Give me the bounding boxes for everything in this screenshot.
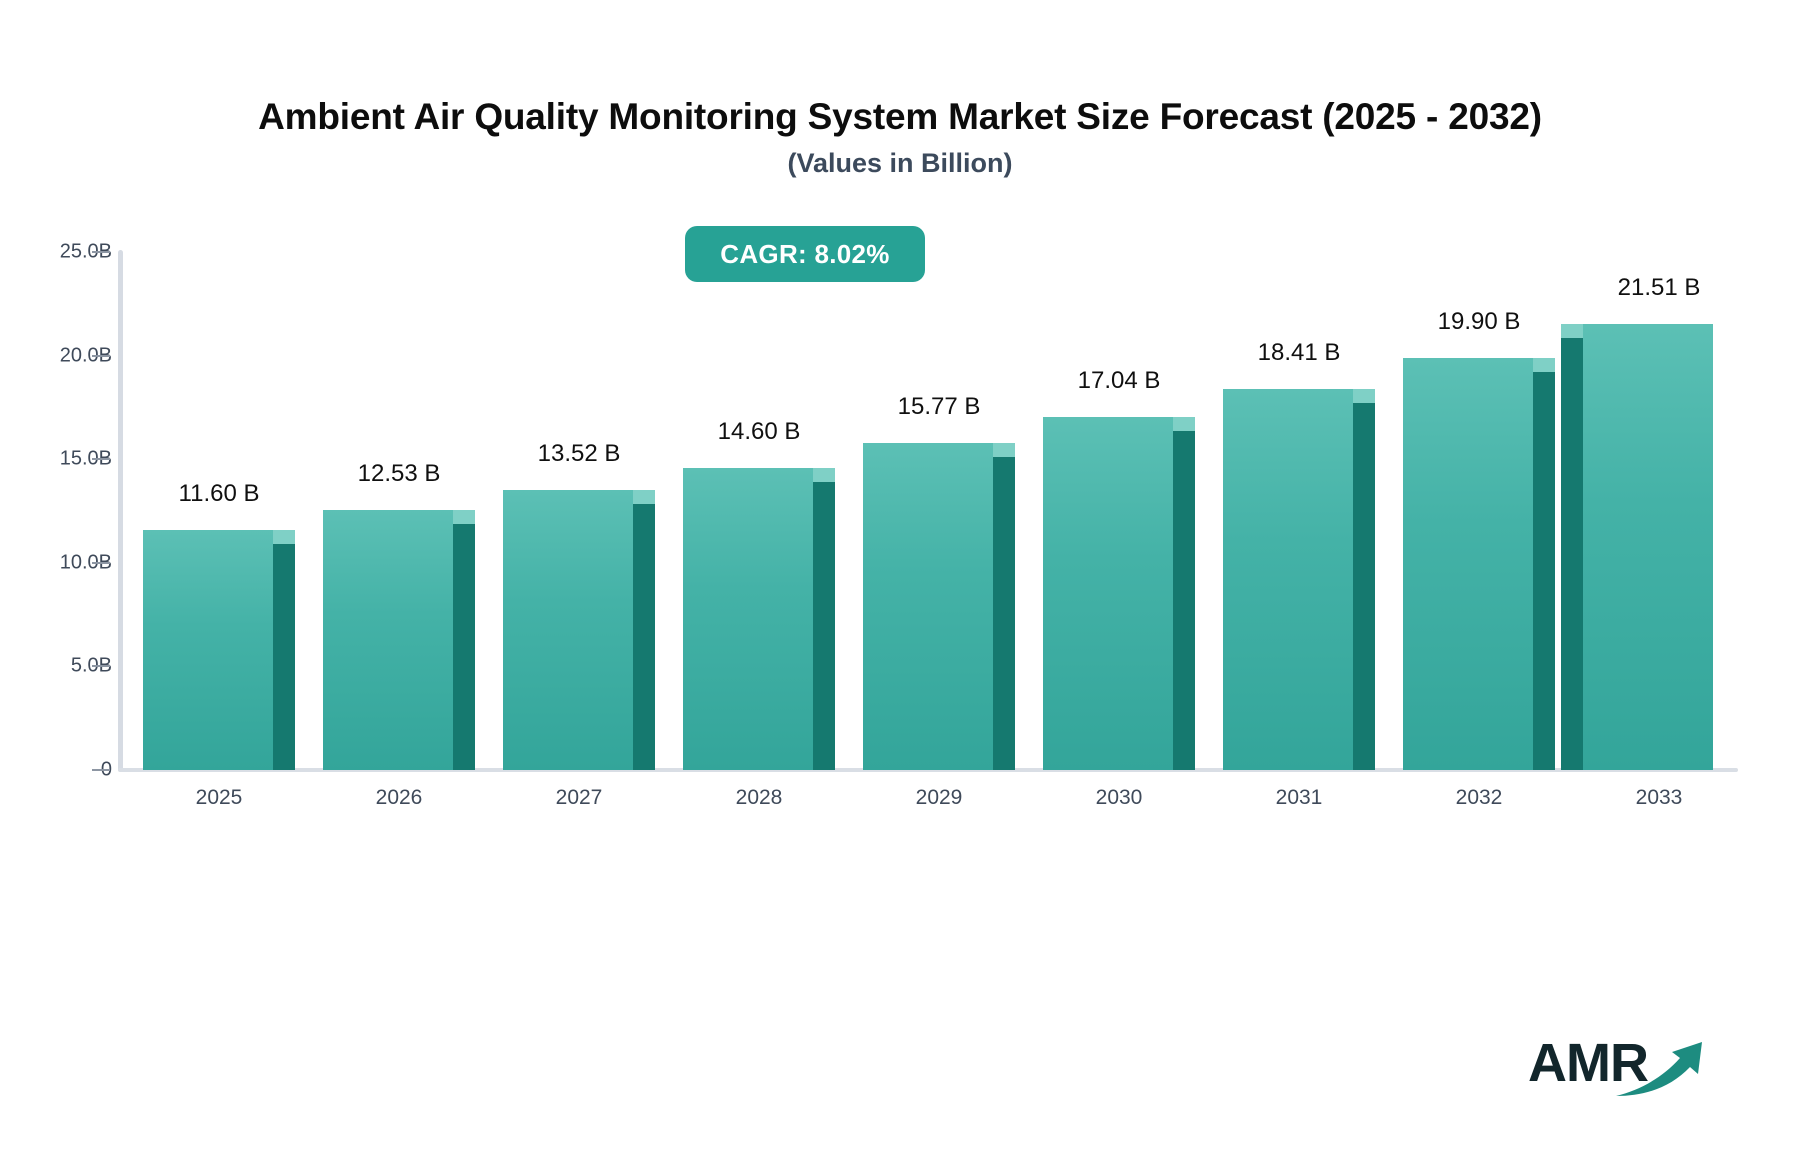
chart-subtitle: (Values in Billion) bbox=[0, 148, 1800, 179]
amr-logo: AMR bbox=[1528, 1030, 1708, 1114]
bar-front-face bbox=[1583, 324, 1713, 770]
bar-top-face bbox=[1173, 417, 1195, 431]
chart-page: Ambient Air Quality Monitoring System Ma… bbox=[0, 0, 1800, 1156]
bar bbox=[503, 490, 633, 770]
bar-top-face bbox=[453, 510, 475, 524]
bar-top-face bbox=[993, 443, 1015, 457]
bar-value-label: 14.60 B bbox=[718, 418, 801, 446]
bar-value-label: 12.53 B bbox=[358, 460, 441, 488]
bar-top-face bbox=[1533, 358, 1555, 372]
bar-value-label: 11.60 B bbox=[179, 480, 260, 508]
y-axis-tick-mark bbox=[92, 665, 110, 667]
x-axis-tick-label: 2031 bbox=[1276, 786, 1323, 810]
bar-front-face bbox=[143, 530, 273, 770]
bar bbox=[323, 510, 453, 770]
x-axis-tick-label: 2030 bbox=[1096, 786, 1143, 810]
y-axis-tick-mark bbox=[92, 769, 110, 771]
bar-side-face bbox=[1533, 372, 1555, 770]
bar bbox=[1403, 358, 1533, 770]
bar-value-label: 21.51 B bbox=[1618, 274, 1701, 302]
x-axis-tick-label: 2032 bbox=[1456, 786, 1503, 810]
bar-side-face bbox=[1173, 431, 1195, 770]
x-axis-tick-label: 2026 bbox=[376, 786, 423, 810]
bar bbox=[1043, 417, 1173, 770]
bar bbox=[1223, 389, 1353, 770]
bar-value-label: 17.04 B bbox=[1078, 367, 1161, 395]
bar bbox=[1583, 324, 1713, 770]
bar-side-face bbox=[633, 504, 655, 770]
bar-front-face bbox=[503, 490, 633, 770]
x-axis-tick-label: 2028 bbox=[736, 786, 783, 810]
bar-side-face bbox=[453, 524, 475, 770]
bar-side-face bbox=[273, 544, 295, 770]
bar-value-label: 19.90 B bbox=[1438, 308, 1521, 336]
bar-front-face bbox=[1223, 389, 1353, 770]
x-axis-tick-label: 2027 bbox=[556, 786, 603, 810]
bar-front-face bbox=[683, 468, 813, 771]
bar-value-label: 13.52 B bbox=[538, 440, 621, 468]
x-axis-tick-label: 2029 bbox=[916, 786, 963, 810]
x-axis-tick-label: 2025 bbox=[196, 786, 243, 810]
y-axis-tick-mark bbox=[92, 355, 110, 357]
bar-front-face bbox=[323, 510, 453, 770]
bar-front-face bbox=[1403, 358, 1533, 770]
bar-front-face bbox=[1043, 417, 1173, 770]
bar bbox=[143, 530, 273, 770]
plot-area: 11.60 B12.53 B13.52 B14.60 B15.77 B17.04… bbox=[118, 252, 1738, 770]
bar bbox=[683, 468, 813, 771]
bar-top-face bbox=[1353, 389, 1375, 403]
bar-side-face bbox=[813, 482, 835, 771]
bar-side-face bbox=[1353, 403, 1375, 770]
chart-title: Ambient Air Quality Monitoring System Ma… bbox=[0, 96, 1800, 138]
bar-top-face bbox=[813, 468, 835, 482]
y-axis-tick-mark bbox=[92, 458, 110, 460]
bar-front-face bbox=[863, 443, 993, 770]
bar-side-face bbox=[1561, 338, 1583, 770]
growth-arrow-icon bbox=[1614, 1038, 1710, 1100]
bar-top-face bbox=[633, 490, 655, 504]
y-axis-tick-mark bbox=[92, 251, 110, 253]
bar-side-face bbox=[993, 457, 1015, 770]
bar bbox=[863, 443, 993, 770]
x-axis-tick-label: 2033 bbox=[1636, 786, 1683, 810]
bar-value-label: 15.77 B bbox=[898, 393, 981, 421]
bar-top-face bbox=[273, 530, 295, 544]
bar-top-face bbox=[1561, 324, 1583, 338]
y-axis-tick-mark bbox=[92, 562, 110, 564]
bar-value-label: 18.41 B bbox=[1258, 339, 1341, 367]
